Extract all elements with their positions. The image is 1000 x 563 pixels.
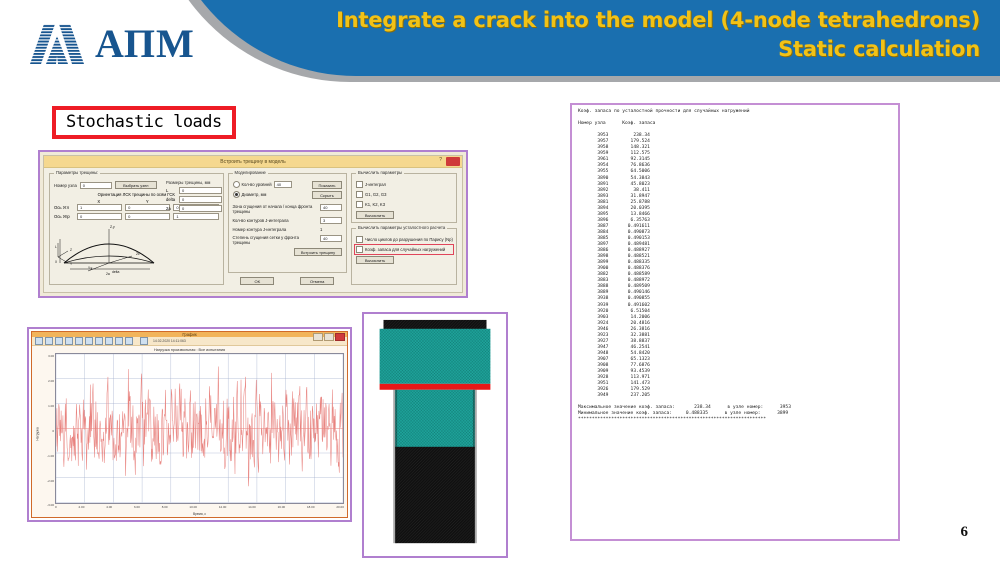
levels-radio[interactable]: Кол-во уровней 40 [233, 181, 309, 188]
page-number: 6 [961, 524, 969, 541]
slide-root: Integrate a crack into the model (4-node… [0, 0, 1000, 563]
crack-dialog: Встроить трещину в модель ? Параметры тр… [43, 155, 463, 293]
xtick: 16.00 [278, 505, 286, 512]
contour-number-row: Номер контура J-интеграла 1 [233, 227, 342, 232]
results-text-content: Коэф. запаса по усталостной прочности дл… [578, 109, 892, 423]
check-g-factors-label: G1, G2, G3 [365, 192, 386, 197]
chart-body: Нагрузка 3.00 2.00 1.00 0 -1.00 -2.00 -3… [32, 352, 347, 518]
check-j-integral[interactable]: J-интеграл [356, 181, 452, 188]
orientation-row-1-x[interactable]: 1 [77, 204, 122, 211]
compute-params-caption: Вычислить параметры [356, 170, 404, 175]
insert-crack-button[interactable]: Встроить трещину [294, 248, 342, 256]
help-icon[interactable] [125, 337, 133, 345]
zone-label: Зона сгущения от начала / конца фронта т… [233, 204, 317, 214]
chart-xticks: 0 2.00 4.00 6.00 8.00 10.00 12.00 14.00 … [55, 504, 344, 512]
modeling-column: Моделирование Кол-во уровней 40 [228, 173, 347, 285]
check-random-safety-factor[interactable]: Коэф. запаса для случайных нагружений [356, 246, 452, 253]
hide-button[interactable]: Скрыть [312, 191, 342, 199]
crack-sizes-caption: Размеры трещины, мм [166, 180, 222, 185]
svg-text:2c: 2c [136, 252, 140, 256]
zoom-in-icon[interactable] [65, 337, 73, 345]
svg-text:L: L [55, 245, 57, 249]
node-input[interactable]: 0 [80, 182, 112, 189]
graph-window: График 14.02.2020 [31, 331, 348, 518]
compute-button[interactable]: Вычислить [356, 211, 394, 219]
ok-button[interactable]: OK [240, 277, 274, 285]
zone-input[interactable]: 40 [320, 204, 342, 211]
ytick: 3.00 [48, 354, 54, 358]
check-k-factors-label: K1, K2, K3 [365, 202, 385, 207]
contour-number-label: Номер контура J-интеграла [233, 227, 317, 232]
dialog-titlebar: Встроить трещину в модель ? [44, 156, 462, 168]
orientation-row-1-label: Ось Угл [54, 205, 74, 210]
fe-model-view[interactable] [366, 316, 504, 554]
mesh-row: Степень сгущения сетки у фронта трещины … [233, 235, 342, 245]
checkbox-icon [356, 236, 363, 243]
legend-icon[interactable] [55, 337, 63, 345]
modeling-caption: Моделирование [233, 170, 268, 175]
svg-text:Y,y: Y,y [88, 266, 93, 270]
radio-selected-icon [233, 191, 240, 198]
pan-icon[interactable] [85, 337, 93, 345]
levels-label: Кол-во уровней [242, 182, 272, 187]
xtick: 18.00 [307, 505, 315, 512]
zone-row: Зона сгущения от начала / конца фронта т… [233, 204, 342, 214]
ytick: 0 [52, 429, 54, 433]
graph-toolbar: 14.02.2020 14:11:063 [32, 337, 347, 346]
crack-sizes-block: Размеры трещины, мм L 0 delta 0 2a 0 [166, 180, 222, 214]
contour-number-value: 1 [320, 227, 342, 232]
apm-logo-text: АПМ [95, 24, 195, 64]
contours-row: Кол-во контуров J-интеграла 3 [233, 217, 342, 224]
orientation-row-2-x[interactable]: 0 [77, 213, 122, 220]
mesh-input[interactable]: 40 [320, 235, 342, 242]
contours-label: Кол-во контуров J-интеграла [233, 218, 317, 223]
xtick: 4.00 [106, 505, 112, 512]
svg-text:Z: Z [70, 248, 72, 252]
orientation-row-2-y[interactable]: 0 [125, 213, 170, 220]
size-delta-label: delta [166, 197, 176, 202]
show-button[interactable]: Показать [312, 181, 342, 189]
apm-logo: АПМ [28, 22, 195, 66]
size-2a-label: 2a [166, 206, 176, 211]
calendar-icon[interactable] [140, 337, 148, 345]
close-icon[interactable] [446, 157, 460, 166]
xtick: 12.00 [219, 505, 227, 512]
crack-dialog-frame: Встроить трещину в модель ? Параметры тр… [38, 150, 468, 298]
xtick: 10.00 [189, 505, 197, 512]
contours-input[interactable]: 3 [320, 217, 342, 224]
svg-text:2a: 2a [106, 272, 110, 275]
xtick: 14.00 [248, 505, 256, 512]
help-icon[interactable]: ? [439, 157, 442, 163]
stochastic-loads-callout: Stochastic loads [52, 106, 236, 139]
radio-icon [233, 181, 240, 188]
save-icon[interactable] [95, 337, 103, 345]
page-title: Integrate a crack into the model (4-node… [280, 6, 980, 64]
mesh-label: Степень сгущения сетки у фронта трещины [233, 235, 317, 245]
apm-logo-icon [28, 22, 86, 66]
fatigue-caption: Вычислить параметры усталостного расчета [356, 225, 447, 230]
size-delta-input[interactable]: 0 [179, 196, 222, 203]
xtick: 2.00 [79, 505, 85, 512]
size-row-delta: delta 0 [166, 196, 222, 203]
svg-text:delta: delta [112, 270, 119, 274]
checkbox-icon [356, 201, 363, 208]
minimize-icon[interactable] [313, 333, 323, 341]
chart-plot-column: 0 2.00 4.00 6.00 8.00 10.00 12.00 14.00 … [55, 353, 344, 516]
pick-node-button[interactable]: Выбрать узел [115, 181, 157, 189]
compute-params-group: Вычислить параметры J-интеграл G1, G2, G… [351, 173, 457, 223]
check-random-safety-factor-label: Коэф. запаса для случайных нагружений [365, 247, 445, 252]
ytick: 2.00 [48, 379, 54, 383]
orientation-row-2-z[interactable]: 1 [173, 213, 218, 220]
orientation-row-2-label: Ось Упр [54, 214, 74, 219]
check-j-integral-label: J-интеграл [365, 182, 386, 187]
crack-params-group: Параметры трещины: Номер узла 0 Выбрать … [49, 173, 224, 285]
chart-yticks: 3.00 2.00 1.00 0 -1.00 -2.00 -3.00 [41, 353, 55, 516]
xtick: 0 [55, 505, 57, 512]
graph-timestamp: 14.02.2020 14:11:063 [153, 339, 186, 343]
checkbox-icon [356, 181, 363, 188]
diameter-radio[interactable]: Диаметр, мм [233, 191, 309, 198]
check-paris-cycles-label: Число циклов до разрушения по Парису (Np… [365, 237, 453, 242]
checkbox-icon [356, 246, 363, 253]
graph-titlebar: График [32, 332, 347, 337]
svg-text:Z,y: Z,y [110, 225, 115, 229]
levels-input[interactable]: 40 [274, 181, 292, 188]
fatigue-compute-button[interactable]: Вычислить [356, 256, 394, 264]
orientation-row-2: Ось Упр 0 0 1 [54, 213, 219, 220]
graph-title-text: График [182, 332, 196, 337]
size-row-2a: 2a 0 [166, 205, 222, 212]
size-l-label: L [166, 188, 176, 193]
orientation-row-1-y[interactable]: 0 [125, 204, 170, 211]
pointer-icon[interactable] [35, 337, 43, 345]
dialog-body: Параметры трещины: Номер узла 0 Выбрать … [44, 168, 462, 288]
ytick: -1.00 [47, 454, 54, 458]
cancel-button[interactable]: Отмена [300, 277, 334, 285]
graph-window-frame: График 14.02.2020 [27, 327, 352, 522]
table-icon[interactable] [115, 337, 123, 345]
check-paris-cycles[interactable]: Число циклов до разрушения по Парису (Np… [356, 236, 452, 243]
xtick: 8.00 [162, 505, 168, 512]
node-label: Номер узла [54, 183, 77, 188]
checkbox-icon [356, 191, 363, 198]
ytick: -2.00 [47, 479, 54, 483]
model-view-frame [362, 312, 508, 558]
maximize-icon[interactable] [324, 333, 334, 341]
toolbar-separator [135, 338, 138, 344]
svg-text:X: X [55, 260, 58, 264]
diameter-label: Диаметр, мм [242, 192, 267, 197]
modeling-group: Моделирование Кол-во уровней 40 [228, 173, 347, 273]
crack-geometry-sketch: Z,y 2c delta 2a L Z Y X Y,y [54, 223, 164, 275]
crack-params-caption: Параметры трещины: [54, 170, 100, 175]
print-icon[interactable] [105, 337, 113, 345]
chart-xlabel: Время, с [55, 512, 344, 516]
compute-column: Вычислить параметры J-интеграл G1, G2, G… [351, 173, 457, 285]
size-2a-input[interactable]: 0 [179, 205, 222, 212]
xtick: 20.00 [336, 505, 344, 512]
window-controls [313, 333, 345, 341]
chart-ylabel: Нагрузка [34, 353, 41, 516]
results-text-frame[interactable]: Коэф. запаса по усталостной прочности дл… [570, 103, 900, 541]
dialog-actions: OK Отмена [228, 277, 347, 285]
grid-icon[interactable] [45, 337, 53, 345]
check-g-factors[interactable]: G1, G2, G3 [356, 191, 452, 198]
fatigue-group: Вычислить параметры усталостного расчета… [351, 228, 457, 285]
dialog-title-text: Встроить трещину в модель [220, 159, 285, 165]
zoom-out-icon[interactable] [75, 337, 83, 345]
ytick: -3.00 [47, 503, 54, 507]
close-icon[interactable] [335, 333, 345, 341]
chart-plot-area[interactable] [55, 353, 344, 504]
size-l-input[interactable]: 0 [179, 187, 222, 194]
ytick: 1.00 [48, 404, 54, 408]
xtick: 6.00 [134, 505, 140, 512]
check-k-factors[interactable]: K1, K2, K3 [356, 201, 452, 208]
size-row-l: L 0 [166, 187, 222, 194]
